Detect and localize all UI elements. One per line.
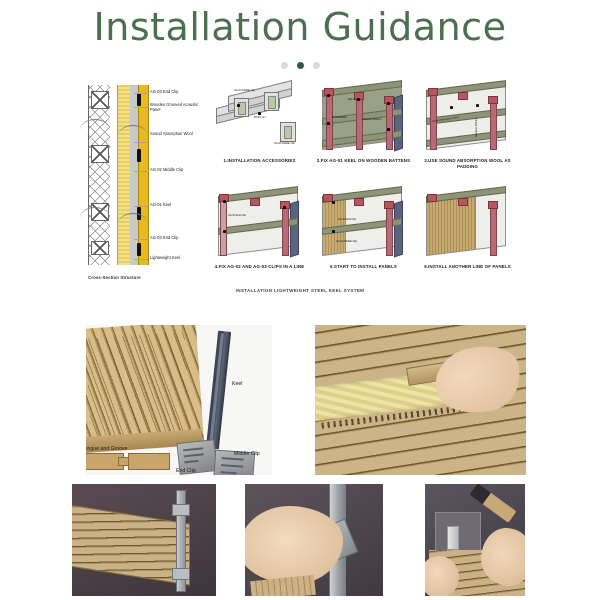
xsec-label-5: AG-03 End Clip bbox=[150, 235, 178, 240]
step-3-caption: 3.USE SOUND ABSORPTION WOOL AS PADDING bbox=[420, 158, 515, 171]
accessory-clip-3 bbox=[280, 122, 296, 142]
panel-perforations bbox=[86, 332, 192, 443]
leader-1 bbox=[134, 107, 148, 108]
step-1-anno-0: AG-03 Middle Clip bbox=[234, 89, 255, 92]
leader-6 bbox=[134, 259, 148, 260]
pagination-dot-2[interactable] bbox=[297, 62, 304, 69]
accessory-clip-2 bbox=[264, 92, 279, 111]
diagram-sheet: AG-03 End Clip Wooden Grooved Acoustic P… bbox=[0, 80, 600, 310]
end-clip-label: End Clip bbox=[176, 468, 196, 474]
keel-label: Keel bbox=[232, 381, 242, 387]
clip-fixing-photo bbox=[245, 484, 383, 596]
step-4-artwork: AG-03 End Clip bbox=[212, 188, 307, 260]
layer-acoustic-panel bbox=[138, 85, 149, 265]
clip-marker-top bbox=[137, 93, 141, 106]
clip-marker-middle bbox=[137, 149, 141, 162]
rail-clip-bottom bbox=[172, 568, 190, 580]
wool-installation-photo bbox=[315, 325, 526, 475]
pagination-dot-3[interactable] bbox=[313, 62, 320, 69]
tongue-and-groove-label: Tongue and Groove bbox=[86, 446, 128, 452]
step-4-caption: 4.FIX AG-02 AND AG-03 CLIPS IN A LINE bbox=[212, 264, 307, 270]
step-6-artwork bbox=[420, 188, 515, 260]
leader-3 bbox=[134, 171, 148, 172]
step-6: 6.INSTALL ANOTHER LINE OF PANELS bbox=[420, 188, 515, 270]
xsec-label-1: Wooden Grooved Acoustic Panel bbox=[150, 102, 206, 112]
mounted-panels-photo bbox=[72, 484, 216, 596]
step-6-caption: 6.INSTALL ANOTHER LINE OF PANELS bbox=[420, 264, 515, 270]
step-3-artwork: Sound Absorption Wool Distance 400mm bbox=[420, 82, 515, 154]
step-3: Sound Absorption Wool Distance 400mm 3.U… bbox=[420, 82, 515, 171]
accessory-clip-1 bbox=[234, 98, 249, 117]
carousel-pagination[interactable] bbox=[0, 62, 600, 69]
layer-substrate bbox=[88, 85, 112, 265]
cross-section-caption: Cross-Section Structure bbox=[88, 275, 141, 280]
pagination-dot-1[interactable] bbox=[281, 62, 288, 69]
leader-2 bbox=[134, 142, 148, 143]
step-1-anno-2: AG-03 Middle Clip bbox=[274, 142, 295, 145]
page-header: Installation Guidance bbox=[0, 0, 600, 69]
step-1-anno-1: 50.53 mm bbox=[254, 116, 266, 119]
step-2: 300 mm Wood Batten Distance 400mm 2.FIX … bbox=[316, 82, 411, 164]
sheet-footer-caption: INSTALLATION LIGHTWEIGHT STEEL KEEL SYST… bbox=[0, 288, 600, 293]
leader-5 bbox=[134, 239, 148, 240]
leader-0 bbox=[134, 93, 148, 94]
step-5: AG-03 End Clip AG-02 Middle Clip 5.START… bbox=[316, 188, 411, 270]
tongue-and-groove-diagram bbox=[86, 449, 170, 469]
keel-node-1 bbox=[91, 91, 109, 109]
cross-section-label-list: AG-03 End Clip Wooden Grooved Acoustic P… bbox=[150, 85, 208, 265]
step-5-artwork: AG-03 End Clip AG-02 Middle Clip bbox=[316, 188, 411, 260]
xsec-label-3: AG-02 Middle Clip bbox=[150, 167, 183, 172]
leader-4 bbox=[134, 206, 148, 207]
xsec-label-4: AG-01 Keel bbox=[150, 202, 171, 207]
supporting-hand bbox=[425, 556, 459, 596]
step-2-artwork: 300 mm Wood Batten Distance 400mm bbox=[316, 82, 411, 154]
step-1-caption: 1.INSTALLATION ACCESSORIES bbox=[212, 158, 307, 164]
step-6-panel-run bbox=[426, 194, 476, 256]
step-5-anno-1: AG-02 Middle Clip bbox=[336, 240, 357, 243]
step-2-anno-1: Distance 400mm bbox=[362, 118, 381, 121]
clip-marker-bottom bbox=[137, 243, 141, 256]
xsec-label-2: Sound Absorption Wool bbox=[150, 131, 204, 136]
keel-node-4 bbox=[91, 241, 109, 255]
product-components-photo: Keel Tongue and Groove End Clip Middle C… bbox=[86, 325, 272, 475]
photo-grid: Keel Tongue and Groove End Clip Middle C… bbox=[0, 318, 600, 600]
spray-can bbox=[447, 526, 459, 550]
installation-guidance-page: Installation Guidance bbox=[0, 0, 600, 600]
xsec-label-6: Lightweight Keel bbox=[150, 255, 180, 260]
hammer-fixing-photo bbox=[425, 484, 525, 596]
step-2-anno-0: Wood Batten bbox=[332, 116, 347, 119]
step-4-anno-0: AG-03 End Clip bbox=[228, 214, 246, 217]
step-5-anno-0: AG-03 End Clip bbox=[338, 218, 356, 221]
step-2-caption: 2.FIX AG-01 KEEL ON WOODEN BATTENS bbox=[316, 158, 411, 164]
step-5-caption: 5.START TO INSTALL PANELS bbox=[316, 264, 411, 270]
page-title: Installation Guidance bbox=[0, 6, 600, 50]
cross-section-diagram: AG-03 End Clip Wooden Grooved Acoustic P… bbox=[88, 85, 206, 290]
step-1-artwork: AG-03 Middle Clip 50.53 mm AG-03 Middle … bbox=[212, 82, 307, 154]
step-diagram-grid: AG-03 Middle Clip 50.53 mm AG-03 Middle … bbox=[212, 80, 532, 280]
step-4: AG-03 End Clip 4.FIX AG-02 AND AG-03 CLI… bbox=[212, 188, 307, 270]
xsec-label-0: AG-03 End Clip bbox=[150, 89, 178, 94]
keel-node-2 bbox=[91, 145, 109, 163]
step-1: AG-03 Middle Clip 50.53 mm AG-03 Middle … bbox=[212, 82, 307, 164]
cross-section-artwork bbox=[88, 85, 150, 265]
step-2-anno-2: 300 mm bbox=[348, 98, 357, 101]
middle-clip-label: Middle Clip bbox=[234, 451, 260, 457]
step-3-anno-1: Distance 400mm bbox=[475, 118, 478, 137]
rail-clip-top bbox=[172, 504, 190, 516]
